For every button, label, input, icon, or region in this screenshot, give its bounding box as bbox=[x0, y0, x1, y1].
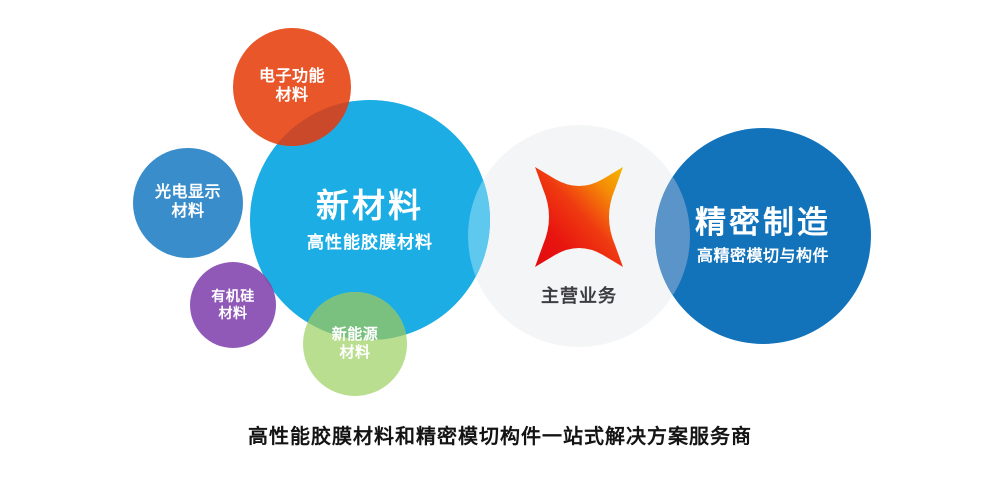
core-business-group[interactable]: 主营业务 bbox=[495, 163, 663, 308]
core-business-label: 主营业务 bbox=[495, 282, 663, 308]
pillar-title-new-material: 新材料 bbox=[316, 187, 424, 226]
diagram-canvas: 新材料 高性能胶膜材料 精密制造 高精密模切与构件 电子功能 材料 光电显示 材… bbox=[0, 0, 1000, 480]
satellite-label-new-energy-line1: 新能源 bbox=[332, 326, 379, 344]
satellite-label-new-energy-line2: 材料 bbox=[339, 344, 370, 362]
diagram-caption: 高性能胶膜材料和精密模切构件一站式解决方案服务商 bbox=[0, 420, 1000, 449]
pillar-circle-precision-manufacturing[interactable]: 精密制造 高精密模切与构件 bbox=[655, 128, 871, 344]
satellite-label-electronic-functional-line1: 电子功能 bbox=[259, 68, 325, 87]
satellite-label-electronic-functional-line2: 材料 bbox=[275, 87, 308, 106]
satellite-label-organic-silicone-line1: 有机硅 bbox=[211, 288, 255, 305]
satellite-label-organic-silicone-line2: 材料 bbox=[219, 305, 248, 322]
satellite-label-optoelectronic-display-line2: 材料 bbox=[171, 203, 204, 222]
satellite-circle-electronic-functional[interactable]: 电子功能 材料 bbox=[233, 28, 351, 146]
satellite-circle-organic-silicone[interactable]: 有机硅 材料 bbox=[190, 262, 276, 348]
pillar-subtitle-precision-manufacturing: 高精密模切与构件 bbox=[697, 248, 829, 267]
satellite-circle-optoelectronic-display[interactable]: 光电显示 材料 bbox=[133, 148, 243, 258]
pillar-subtitle-new-material: 高性能胶膜材料 bbox=[307, 233, 433, 253]
satellite-label-optoelectronic-display-line1: 光电显示 bbox=[155, 184, 221, 203]
pillar-title-precision-manufacturing: 精密制造 bbox=[695, 205, 831, 242]
four-point-star-icon bbox=[523, 163, 635, 271]
satellite-circle-new-energy[interactable]: 新能源 材料 bbox=[303, 292, 407, 396]
